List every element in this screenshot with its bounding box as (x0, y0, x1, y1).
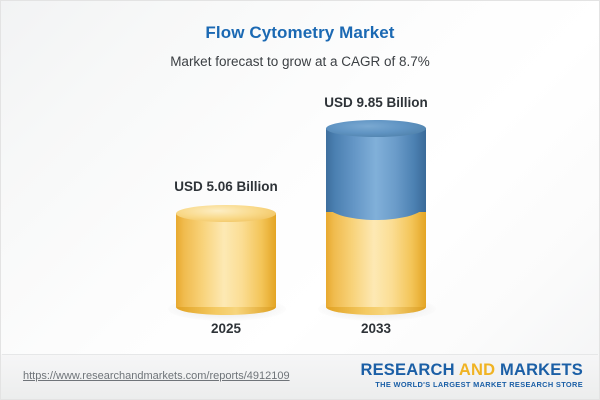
cylinder-segment-base-2033 (326, 205, 426, 315)
plot-area: USD 5.06 Billion 2025 USD 9.85 Billion (1, 1, 600, 353)
brand-logo-research: RESEARCH (360, 361, 458, 379)
cylinder-body-growth-2033 (326, 128, 426, 212)
bar-2025[interactable] (176, 205, 276, 315)
cylinder-body-2025 (176, 213, 276, 307)
brand-logo[interactable]: RESEARCH AND MARKETS THE WORLD'S LARGEST… (360, 361, 583, 390)
footer: https://www.researchandmarkets.com/repor… (1, 354, 599, 399)
footer-divider (2, 354, 598, 355)
cylinder-top-cap-2025 (176, 205, 276, 222)
cylinder-top-cap-2033 (326, 120, 426, 137)
cylinder-segment-base-2025 (176, 205, 276, 315)
brand-logo-wordmark: RESEARCH AND MARKETS (360, 361, 583, 380)
cylinder-body-base-2033 (326, 205, 426, 307)
report-url-link[interactable]: https://www.researchandmarkets.com/repor… (23, 370, 290, 382)
cylinder-segment-growth-2033 (326, 120, 426, 220)
bar-2033[interactable] (326, 120, 426, 315)
bar-value-label-2033: USD 9.85 Billion (276, 95, 476, 110)
brand-logo-tagline: THE WORLD'S LARGEST MARKET RESEARCH STOR… (360, 380, 583, 390)
chart-card: Flow Cytometry Market Market forecast to… (0, 0, 600, 400)
brand-logo-markets: MARKETS (495, 361, 583, 379)
category-label-2033: 2033 (276, 321, 476, 336)
brand-logo-and: AND (459, 361, 495, 379)
bar-value-label-2025: USD 5.06 Billion (126, 179, 326, 194)
